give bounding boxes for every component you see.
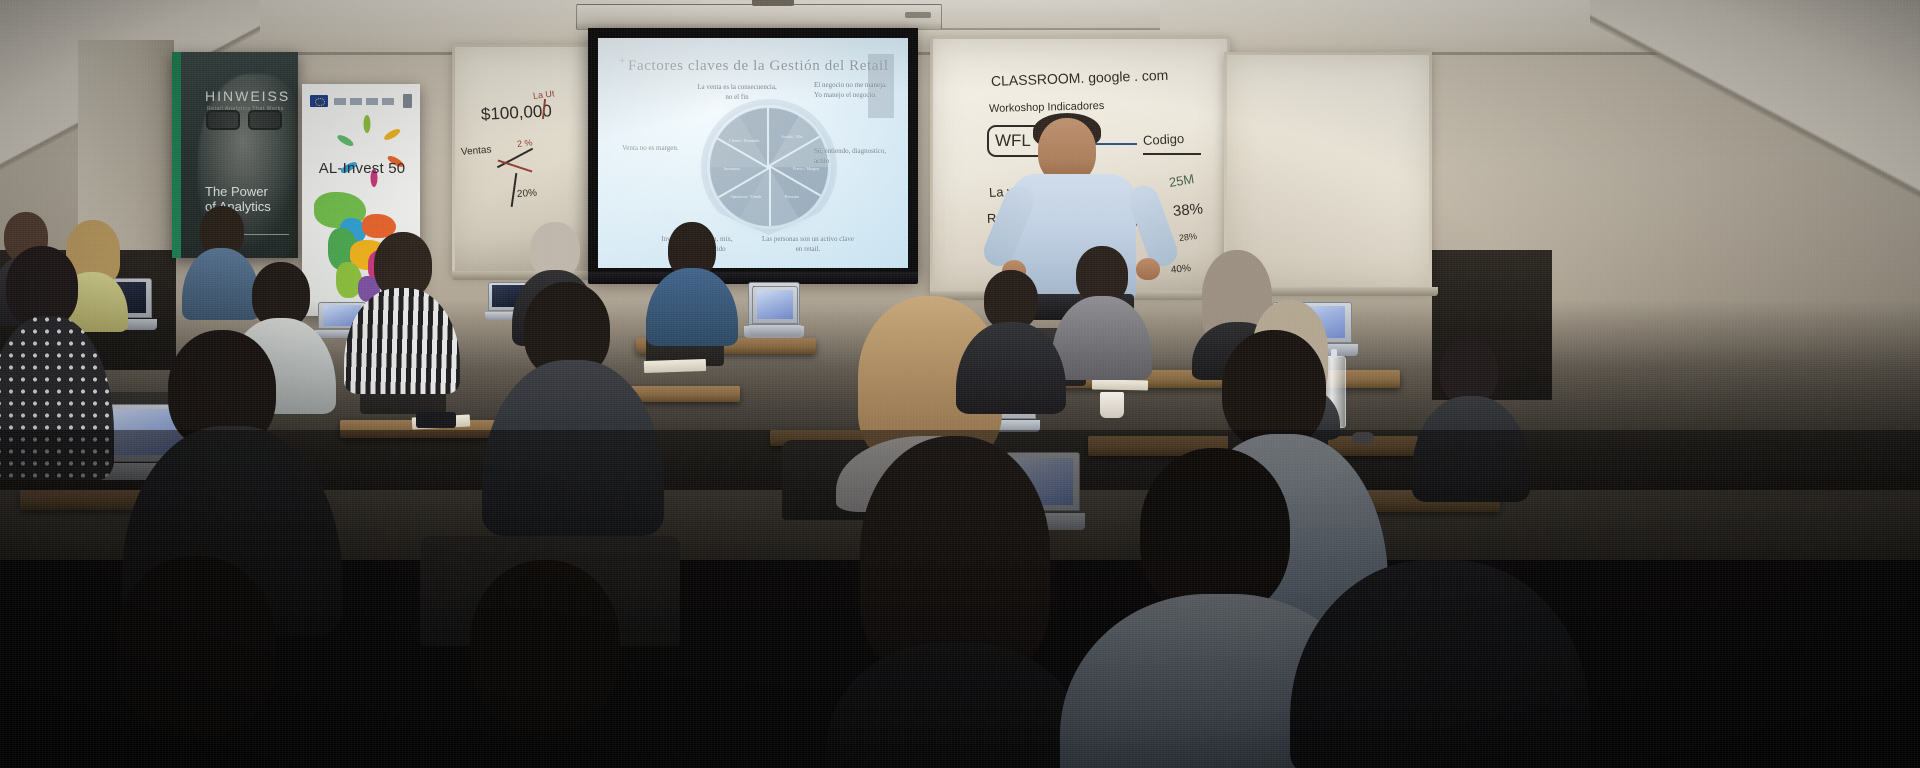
shoulders (344, 288, 460, 394)
hinweiss-tagline: Retail Analytics That Works (207, 106, 284, 112)
slide-bullet-icon: + (619, 55, 625, 67)
hinweiss-headline-line1: The Power (205, 184, 268, 199)
coffee-cup[interactable] (1100, 392, 1124, 418)
wb-left-ink-ventas: Ventas (461, 144, 492, 158)
wb-left-ink-pct2: 20% (517, 188, 538, 200)
alinvest-sponsor-logos (310, 92, 412, 110)
laptop[interactable] (752, 286, 798, 336)
wb-ink-38pct: 38% (1172, 200, 1203, 220)
screen-pull-knob[interactable] (905, 12, 931, 18)
wb-ink-25m: 25M (1168, 171, 1195, 190)
slide-callout-right-top: El negocio no me maneja. Yo manejo el ne… (814, 80, 896, 100)
wheel-spoke (768, 136, 820, 167)
audience-member (956, 270, 1066, 410)
wheel-segment-label: Surtido / Mix (772, 134, 812, 139)
slide-title: Factores claves de la Gestión del Retail (628, 58, 889, 75)
wb-left-stroke (498, 159, 533, 172)
sponsor-text-placeholder (334, 98, 397, 105)
wb-ink-40pct: 40% (1170, 263, 1191, 276)
wb-ink-28pct: 28% (1178, 231, 1197, 243)
wb-ink-classroom: CLASSROOM. google . com (991, 67, 1169, 89)
floor-shadow (0, 430, 1920, 768)
alinvest-name: AL-Invest 50 (310, 160, 414, 177)
wheel-spoke (769, 167, 771, 226)
paper-sheet (1092, 380, 1148, 391)
wb-ink-workshop: Workoshop Indicadores (989, 100, 1105, 115)
glasses-icon (206, 110, 282, 126)
projected-slide: + Factores claves de la Gestión del Reta… (598, 38, 908, 268)
audience-member (1052, 246, 1152, 376)
laptop-screen (757, 290, 794, 320)
eu-flag-icon (310, 95, 328, 107)
eyeglasses-case (416, 412, 456, 428)
shoulders (956, 322, 1066, 414)
projection-screen: + Factores claves de la Gestión del Reta… (588, 28, 918, 276)
wheel-segment-label: Cliente / Demanda (724, 138, 764, 143)
hinweiss-brand: HINWEISS (205, 88, 290, 104)
laptop-lid (752, 286, 798, 324)
wheel-spoke (767, 108, 769, 167)
wheel-segment-label: Inventario (712, 166, 752, 171)
slide-callout-right-mid: Sé, entiendo, diagnostico, actúo (814, 146, 898, 166)
classroom-photo: HINWEISS Retail Analytics That Works The… (0, 0, 1920, 768)
projector-screen-housing (576, 4, 942, 30)
audience-member (344, 232, 460, 392)
wheel-segment-label: Operacion / Tienda (726, 194, 766, 199)
slide-callout-top: La venta es la consecuencia, no el fin (694, 82, 780, 102)
head (984, 270, 1038, 330)
retail-factors-wheel: Cliente / Demanda Surtido / Mix Precio /… (710, 108, 828, 226)
al-invest-flower-logo (348, 114, 386, 152)
laptop-base (749, 325, 801, 336)
head (1440, 338, 1498, 404)
wheel-segment-label: Precio / Margen (786, 166, 826, 171)
shoulders (1052, 296, 1152, 380)
sponsor-mark-icon (403, 94, 412, 108)
slide-callout-bottom-right: Las personas son un activo clave en reta… (762, 234, 854, 254)
wheel-segment-label: Personas (772, 194, 812, 199)
slide-callout-left: Venta no es margen. (622, 143, 698, 153)
